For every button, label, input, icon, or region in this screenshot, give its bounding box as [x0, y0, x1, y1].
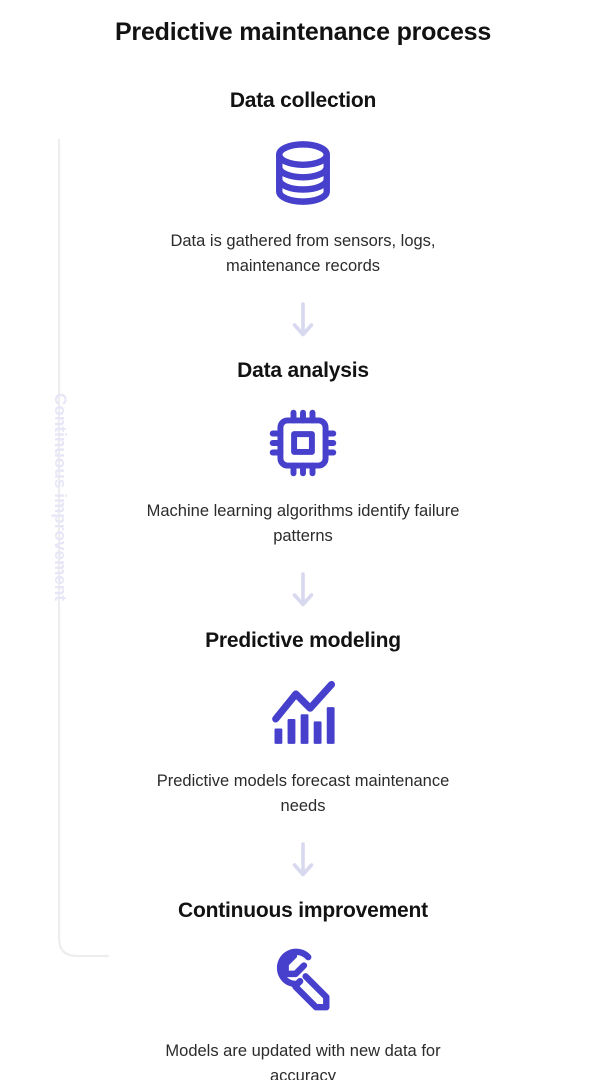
process-column: Predictive maintenance process Data coll…: [0, 0, 606, 1080]
process-step-continuous-improvement: Continuous improvement Models are update…: [0, 899, 606, 1080]
flow-arrow-3: [291, 839, 315, 881]
step-icon-wrapper: [265, 675, 341, 751]
arrow-down-icon: [291, 571, 315, 609]
cpu-chip-icon: [265, 405, 341, 481]
database-icon: [265, 135, 341, 211]
step-title: Data collection: [230, 89, 376, 113]
step-title: Data analysis: [237, 359, 369, 383]
process-step-data-collection: Data collection Data is gathered from se…: [0, 89, 606, 279]
process-step-data-analysis: Data analysis: [0, 359, 606, 549]
wrench-icon: [265, 945, 341, 1021]
step-description: Data is gathered from sensors, logs, mai…: [138, 229, 468, 279]
page-title: Predictive maintenance process: [115, 18, 491, 47]
arrow-down-icon: [291, 841, 315, 879]
step-description: Predictive models forecast maintenance n…: [138, 769, 468, 819]
step-title: Continuous improvement: [178, 899, 428, 923]
process-step-predictive-modeling: Predictive modeling Predictive models fo…: [0, 629, 606, 819]
step-description: Models are updated with new data for acc…: [138, 1039, 468, 1080]
step-icon-wrapper: [265, 405, 341, 481]
arrow-down-icon: [291, 301, 315, 339]
step-title: Predictive modeling: [205, 629, 401, 653]
flow-arrow-1: [291, 299, 315, 341]
bar-chart-trend-icon: [265, 675, 341, 751]
step-icon-wrapper: [265, 945, 341, 1021]
predictive-maintenance-infographic: Continuous improvement Predictive mainte…: [0, 0, 606, 1080]
step-icon-wrapper: [265, 135, 341, 211]
step-description: Machine learning algorithms identify fai…: [138, 499, 468, 549]
flow-arrow-2: [291, 569, 315, 611]
